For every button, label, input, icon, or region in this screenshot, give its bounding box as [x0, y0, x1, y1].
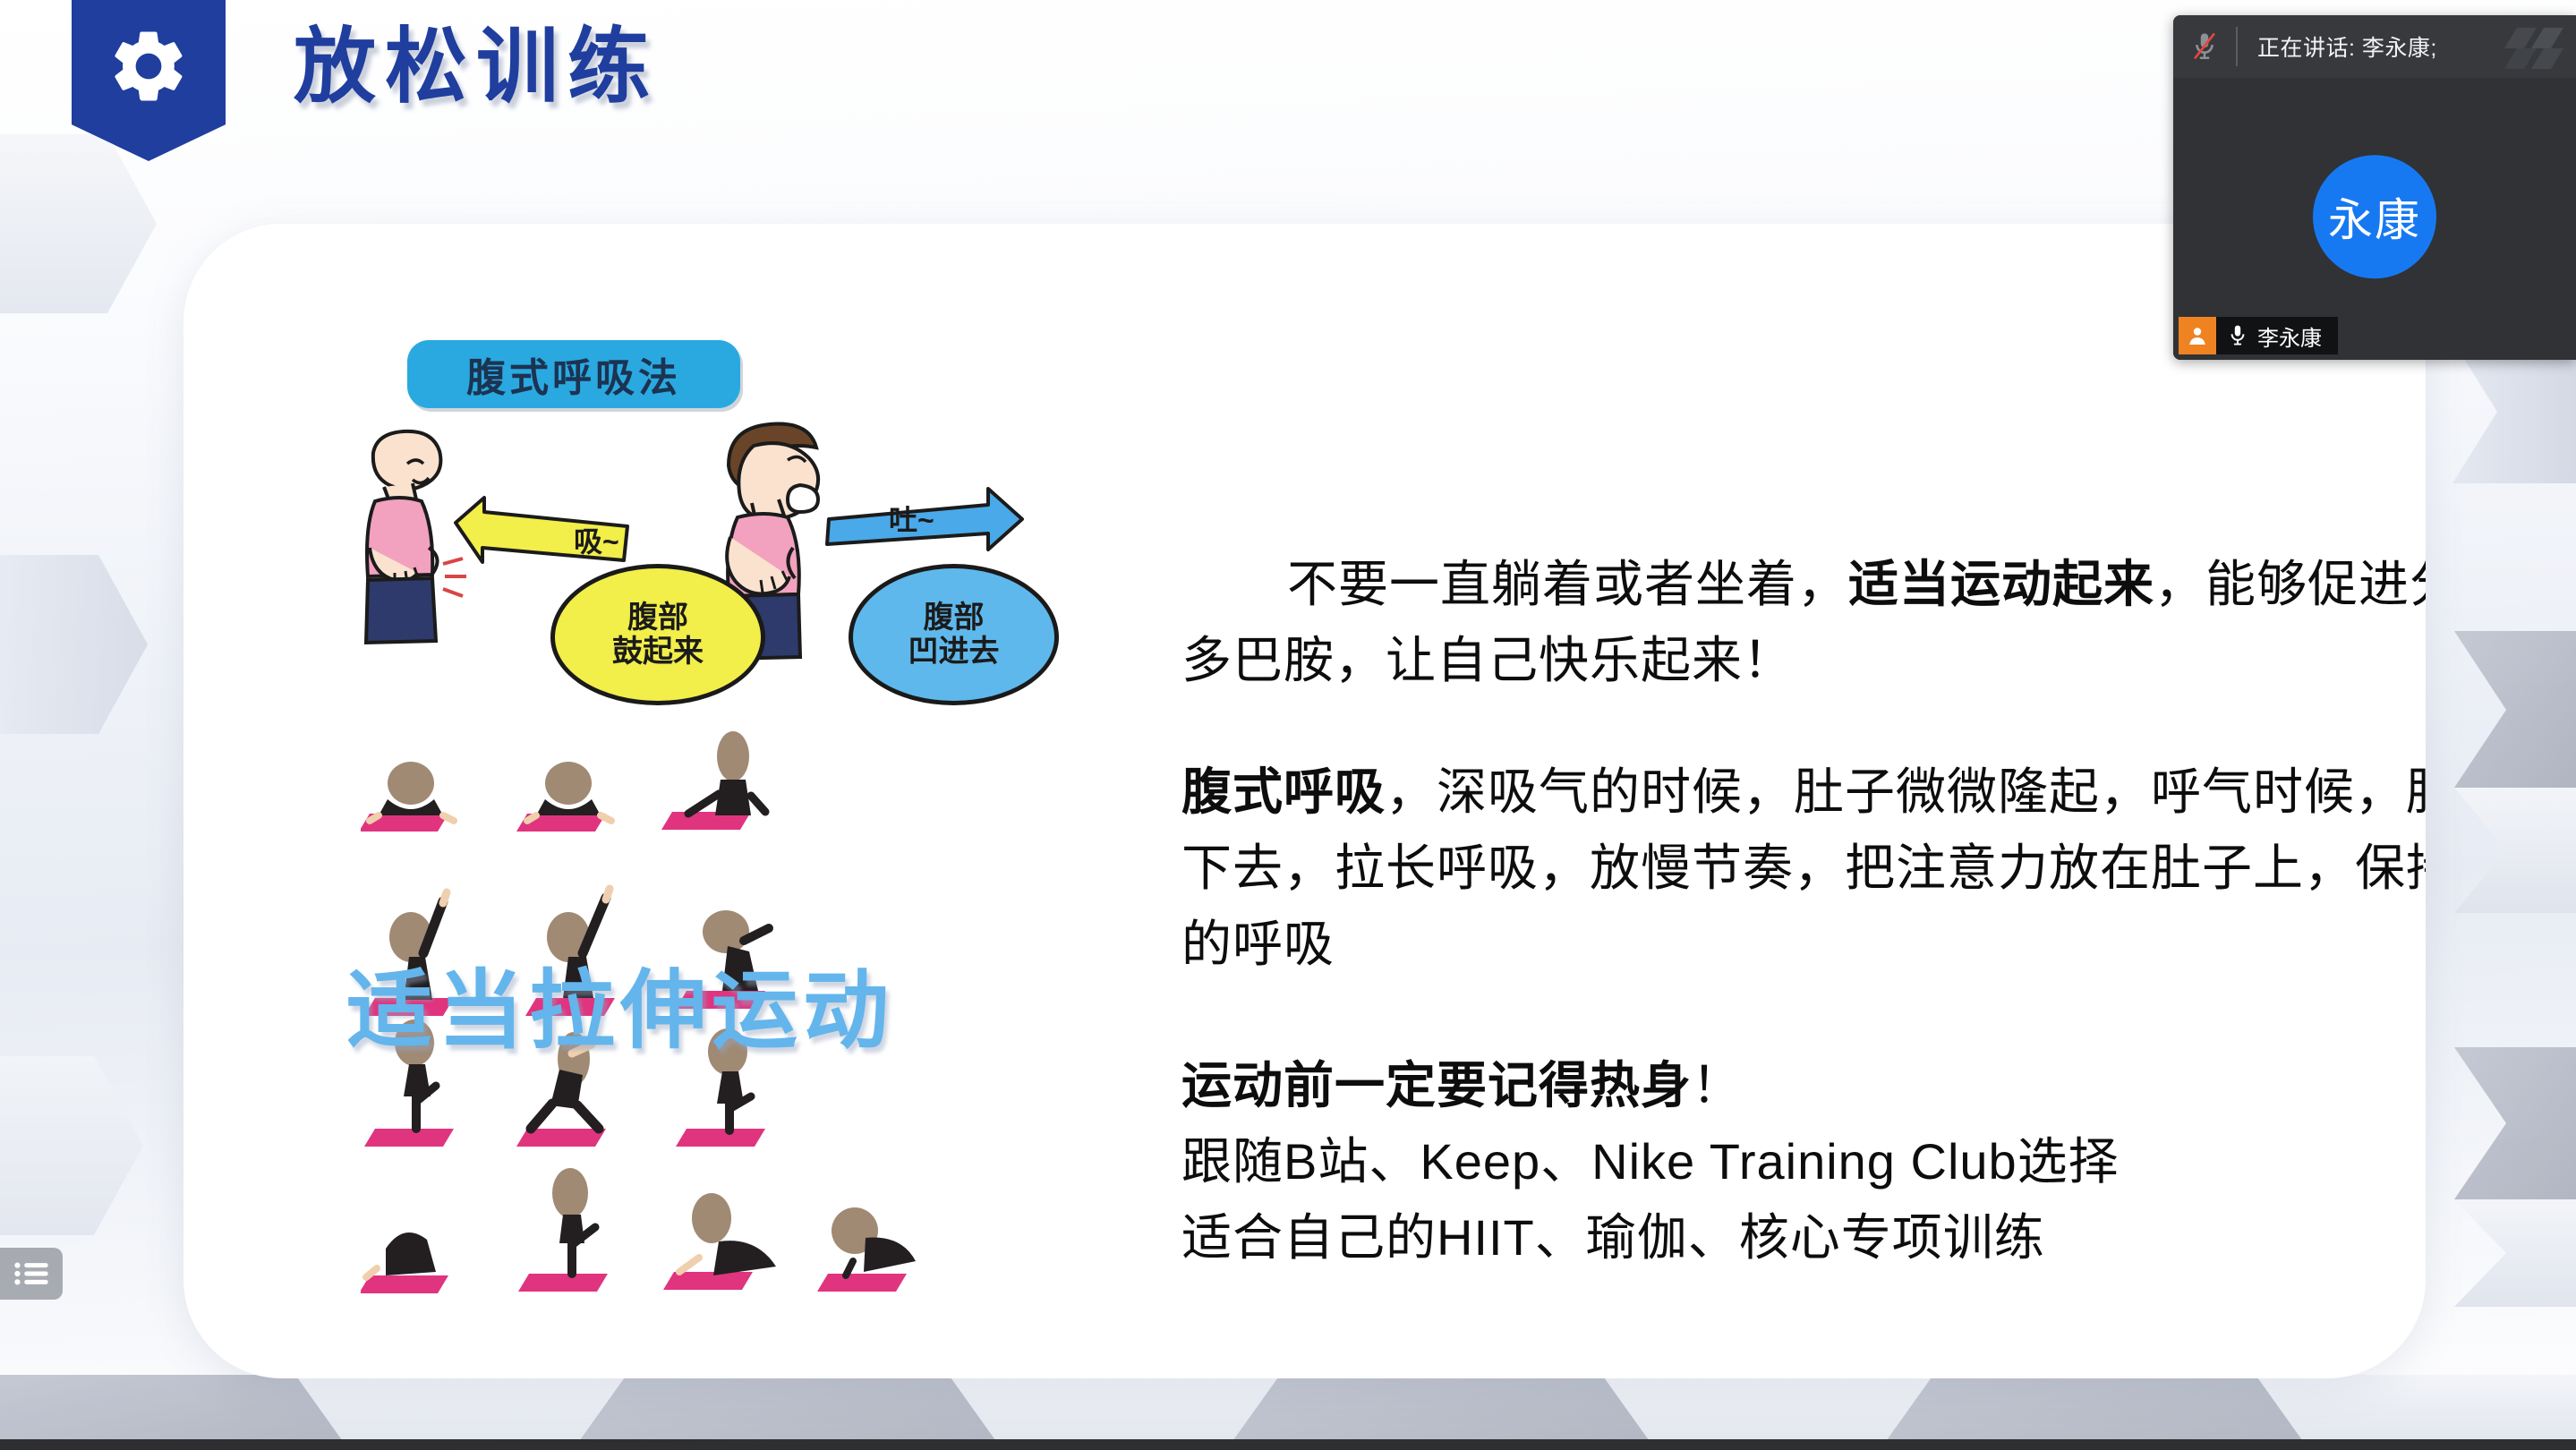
p3-text-excl: ！: [1692, 1057, 1743, 1113]
yoga-pose: [361, 762, 454, 832]
mic-on-icon: [2229, 324, 2247, 347]
yoga-pose: [676, 910, 769, 1009]
participant-badge: [2179, 317, 2216, 354]
yoga-pose: [516, 762, 611, 832]
yoga-poses-grid: 适当拉伸运动: [361, 721, 969, 1311]
avatar: 永康: [2313, 155, 2436, 278]
yoga-pose: [518, 1168, 608, 1292]
participant-name: 李永康: [2257, 320, 2338, 352]
inhale-arrow-label: 吸~: [574, 519, 619, 560]
illustration-column: 腹式呼吸法: [201, 313, 882, 1343]
yoga-pose: [663, 1193, 776, 1290]
yoga-poses-illustration: [361, 721, 969, 1311]
p3-line-3: 适合自己的HIIT、瑜伽、核心专项训练: [1181, 1209, 2045, 1266]
slide-content-card: 腹式呼吸法: [183, 224, 2426, 1378]
yoga-pose: [525, 889, 615, 1016]
video-panel-header: 正在讲话: 李永康;: [2173, 15, 2576, 78]
speaking-label: 正在讲话: 李永康;: [2257, 30, 2437, 63]
list-icon: [14, 1261, 48, 1286]
breathing-title-badge: 腹式呼吸法: [407, 340, 740, 408]
p1-text-a: 不要一直躺着或者坐着，: [1287, 556, 1848, 612]
video-stage[interactable]: 永康 李永康: [2173, 78, 2576, 360]
exhale-speech-bubble: 腹部 凹进去: [849, 564, 1059, 705]
breathing-title-label: 腹式呼吸法: [466, 345, 681, 403]
yoga-pose: [516, 1032, 606, 1147]
inhale-bubble-line-1: 腹部: [627, 601, 688, 635]
exhale-arrow-label: 吐~: [889, 498, 934, 539]
figure-inhale: [366, 431, 466, 643]
inhale-speech-bubble: 腹部 鼓起来: [550, 564, 765, 705]
abdominal-breathing-diagram: 腹式呼吸法: [361, 340, 1028, 716]
p1-text-bold: 适当运动起来: [1848, 556, 2154, 612]
yoga-pose: [661, 731, 765, 830]
p3-text-bold: 运动前一定要记得热身: [1181, 1057, 1692, 1113]
meeting-video-panel[interactable]: 正在讲话: 李永康; 永康: [2173, 15, 2576, 360]
exhale-bubble-line-1: 腹部: [924, 601, 985, 635]
header-divider: [2236, 27, 2238, 66]
yoga-pose: [817, 1207, 916, 1292]
page-title: 放松训练: [294, 23, 659, 112]
mic-muted-icon[interactable]: [2191, 31, 2218, 62]
inhale-bubble-line-2: 鼓起来: [612, 635, 704, 669]
yoga-pose: [364, 1019, 454, 1147]
exhale-bubble-line-2: 凹进去: [908, 635, 1000, 669]
paragraph-exercise: 不要一直躺着或者坐着，适当运动起来，能够促进分泌多巴胺，让自己快乐起来！: [1181, 546, 2426, 698]
p2-text-bold: 腹式呼吸: [1181, 763, 1386, 820]
gear-icon: [106, 23, 192, 109]
yoga-pose: [364, 892, 454, 1016]
yoga-pose: [361, 1232, 448, 1293]
paragraph-warmup: 运动前一定要记得热身！ 跟随B站、Keep、Nike Training Club…: [1181, 1047, 2426, 1275]
meeting-logo-icon: [2497, 22, 2571, 74]
yoga-pose: [676, 1028, 765, 1147]
p3-line-2: 跟随B站、Keep、Nike Training Club选择: [1181, 1133, 2120, 1190]
paragraph-breathing: 腹式呼吸，深吸气的时候，肚子微微隆起，呼气时候，肚子瘪下去，拉长呼吸，放慢节奏，…: [1181, 754, 2426, 982]
participant-name-plate: 李永康: [2179, 317, 2338, 354]
person-icon: [2187, 325, 2208, 346]
slide-menu-button[interactable]: [0, 1248, 63, 1300]
body-text-column: 不要一直躺着或者坐着，适当运动起来，能够促进分泌多巴胺，让自己快乐起来！ 腹式呼…: [1181, 546, 2426, 1275]
presentation-screen: 放松训练 腹式呼吸法: [0, 0, 2576, 1450]
